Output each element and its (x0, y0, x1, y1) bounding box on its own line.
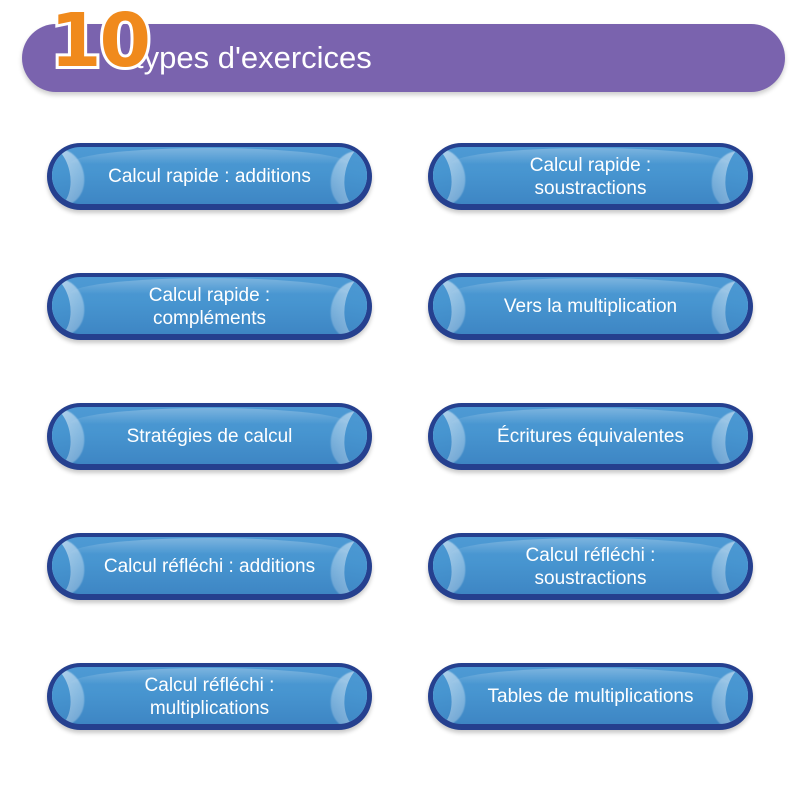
exercise-button-grid: Calcul rapide : additions Calcul rapide … (0, 143, 800, 793)
exercise-button-calcul-rapide-complements[interactable]: Calcul rapide : compléments (47, 273, 372, 340)
button-row: Stratégies de calcul Écritures équivalen… (0, 403, 800, 533)
button-label: Vers la multiplication (454, 273, 727, 340)
exercise-button-vers-la-multiplication[interactable]: Vers la multiplication (428, 273, 753, 340)
button-label: Calcul réfléchi : additions (73, 533, 346, 600)
exercise-button-calcul-reflechi-soustractions[interactable]: Calcul réfléchi : soustractions (428, 533, 753, 600)
page-header: types d'exercices 10 (22, 24, 785, 92)
button-row: Calcul rapide : compléments Vers la mult… (0, 273, 800, 403)
exercise-types-page: types d'exercices 10 Calcul rapide : add… (0, 0, 800, 800)
exercise-button-calcul-reflechi-multiplications[interactable]: Calcul réfléchi : multiplications (47, 663, 372, 730)
button-label: Calcul réfléchi : multiplications (73, 663, 346, 730)
button-label: Calcul rapide : additions (73, 143, 346, 210)
button-label: Calcul rapide : compléments (73, 273, 346, 340)
page-title: types d'exercices (135, 38, 372, 78)
button-row: Calcul réfléchi : additions Calcul réflé… (0, 533, 800, 663)
header-count-badge: 10 (50, 4, 149, 78)
exercise-button-strategies-de-calcul[interactable]: Stratégies de calcul (47, 403, 372, 470)
exercise-button-tables-de-multiplications[interactable]: Tables de multiplications (428, 663, 753, 730)
exercise-button-calcul-reflechi-additions[interactable]: Calcul réfléchi : additions (47, 533, 372, 600)
button-label: Stratégies de calcul (73, 403, 346, 470)
button-row: Calcul réfléchi : multiplications Tables… (0, 663, 800, 793)
button-label: Écritures équivalentes (454, 403, 727, 470)
button-label: Tables de multiplications (454, 663, 727, 730)
exercise-button-calcul-rapide-soustractions[interactable]: Calcul rapide : soustractions (428, 143, 753, 210)
button-label: Calcul réfléchi : soustractions (454, 533, 727, 600)
button-label: Calcul rapide : soustractions (454, 143, 727, 210)
exercise-button-ecritures-equivalentes[interactable]: Écritures équivalentes (428, 403, 753, 470)
button-row: Calcul rapide : additions Calcul rapide … (0, 143, 800, 273)
exercise-button-calcul-rapide-additions[interactable]: Calcul rapide : additions (47, 143, 372, 210)
